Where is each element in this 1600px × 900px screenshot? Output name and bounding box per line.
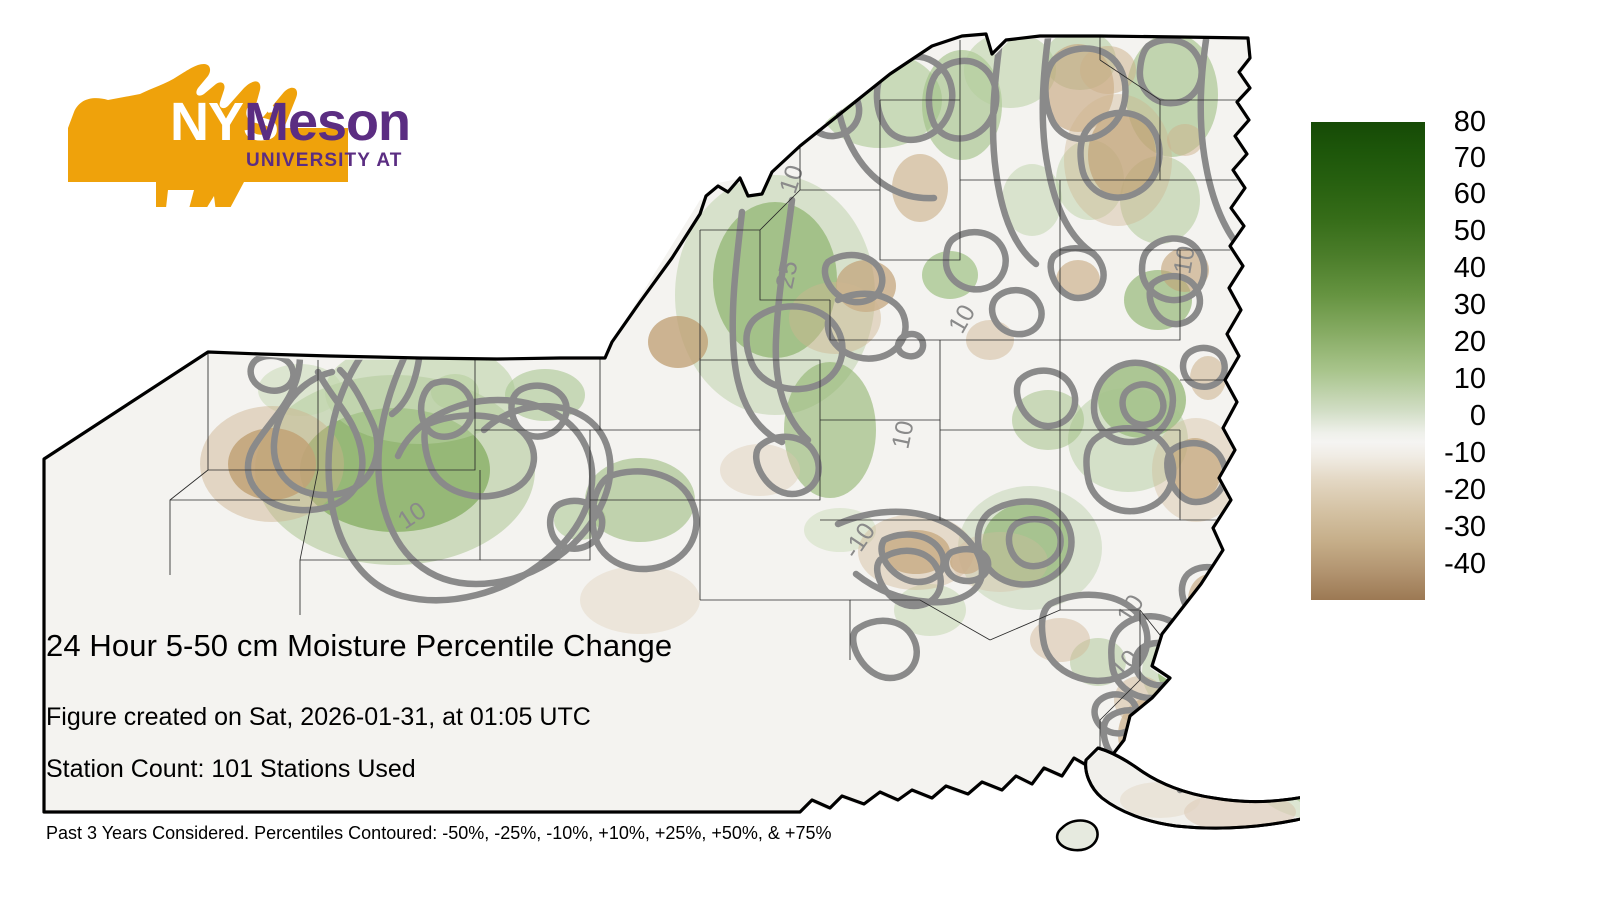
cbtick-0: 0 [1428, 402, 1486, 431]
nys-mesonet-logo: NYS Mesonet UNIVERSITY AT ALBANY [48, 62, 408, 207]
colorbar-gradient [1311, 122, 1425, 600]
colorbar-tick-labels: 80 70 60 50 40 30 20 10 0 -10 -20 -30 -4… [1428, 122, 1548, 600]
contour-footnote: Past 3 Years Considered. Percentiles Con… [46, 823, 831, 844]
contour-label-10d: 10 [886, 418, 919, 451]
colorbar [1311, 122, 1425, 600]
cbtick-20: 20 [1428, 328, 1486, 357]
long-island [1057, 740, 1300, 850]
cbtick-60: 60 [1428, 180, 1486, 209]
contour-label-10g: 10 [1168, 244, 1200, 276]
station-count: Station Count: 101 Stations Used [46, 755, 416, 784]
cbtick-70: 70 [1428, 144, 1486, 173]
cbtick-10: 10 [1428, 365, 1486, 394]
logo-tagline: UNIVERSITY AT ALBANY [246, 150, 408, 171]
contour-label-25a: 25 [770, 258, 803, 291]
cbtick-30: 30 [1428, 291, 1486, 320]
logo-mesonet-text: Mesonet UNIVERSITY AT ALBANY [244, 92, 408, 171]
cbtick-40: 40 [1428, 254, 1486, 283]
cbtick-neg40: -40 [1428, 550, 1486, 579]
cbtick-neg10: -10 [1428, 439, 1486, 468]
cbtick-neg30: -30 [1428, 513, 1486, 542]
cbtick-50: 50 [1428, 217, 1486, 246]
figure-title: 24 Hour 5-50 cm Moisture Percentile Chan… [46, 628, 672, 664]
cbtick-neg20: -20 [1428, 476, 1486, 505]
figure-created-at: Figure created on Sat, 2026-01-31, at 01… [46, 703, 591, 732]
cbtick-80: 80 [1428, 108, 1486, 137]
svg-text:Mesonet: Mesonet [244, 92, 408, 152]
figure-canvas: 10 10 25 10 10 -10 10 10 10 [0, 0, 1600, 900]
